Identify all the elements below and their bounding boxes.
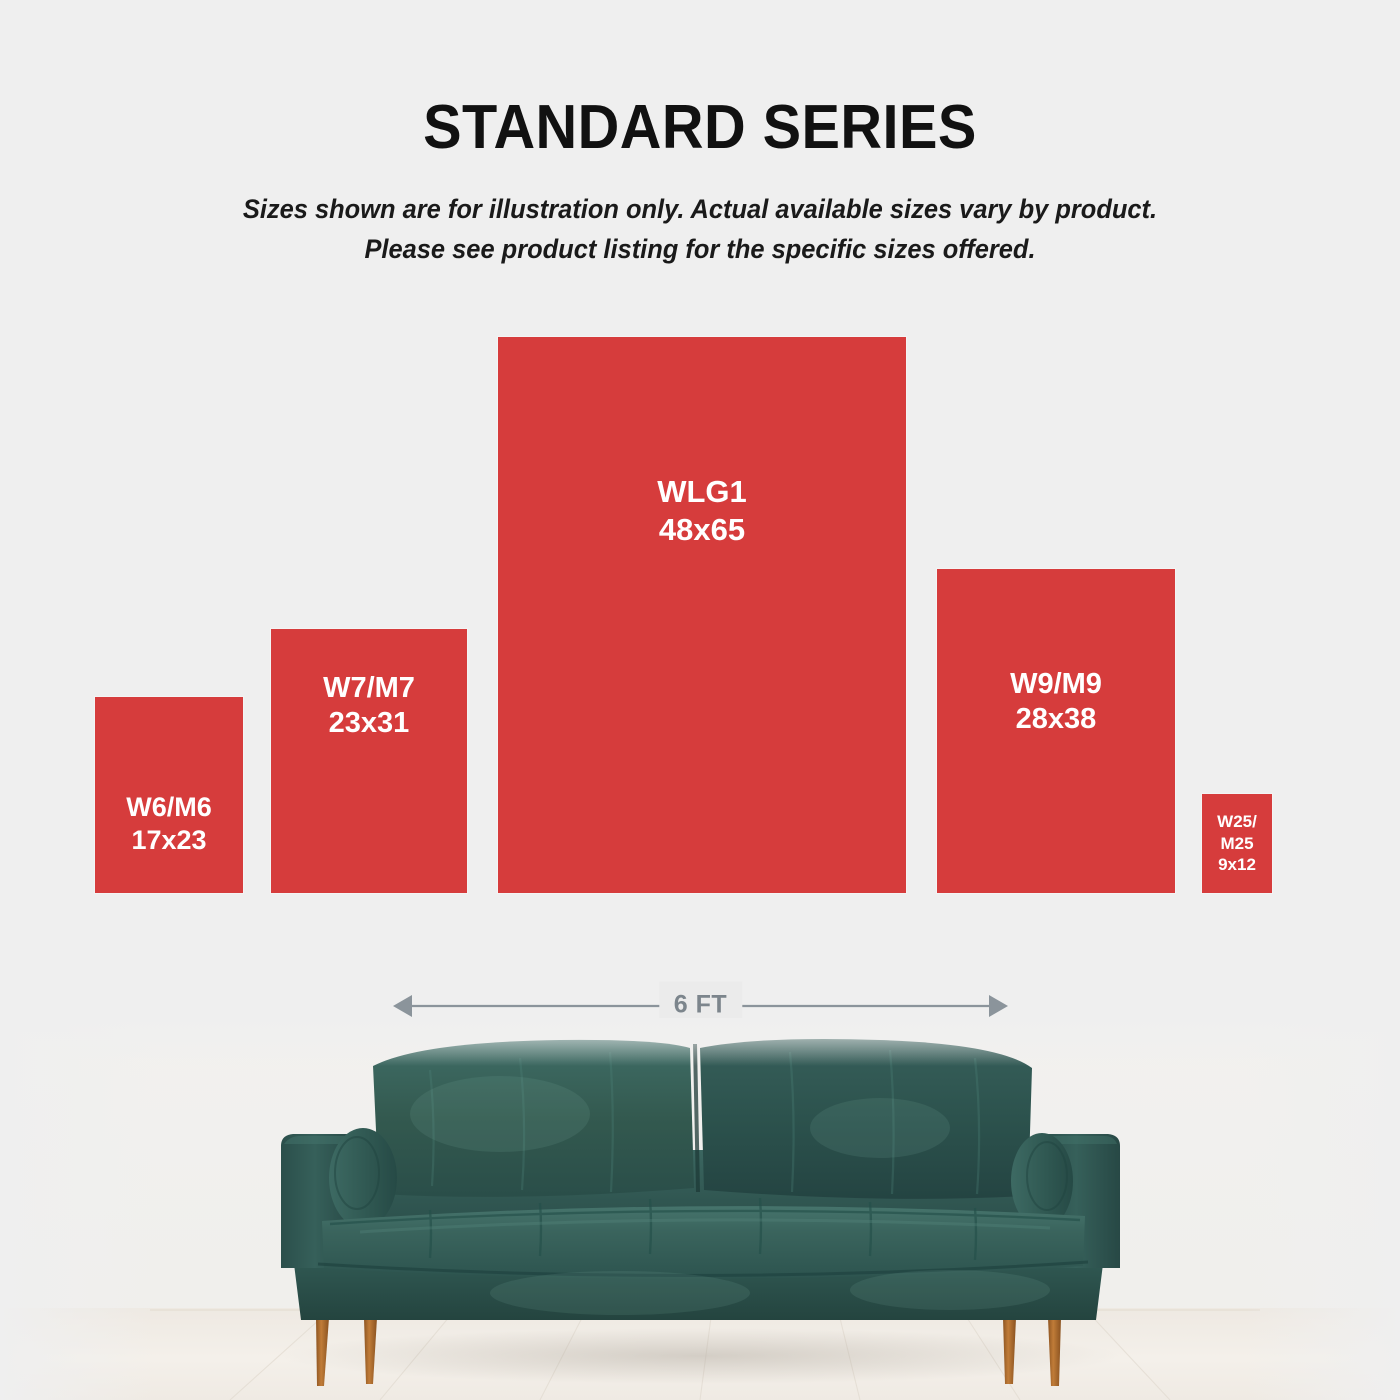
scale-reference-label: 6 FT (674, 991, 727, 1020)
size-box-dimensions: 9x12 (1218, 854, 1256, 876)
size-box-code-line-2: M25 (1220, 833, 1253, 855)
size-chart-page: STANDARD SERIES Sizes shown are for illu… (0, 0, 1400, 1400)
size-box-code: W6/M6 (126, 791, 212, 824)
size-box-group: W6/M6 17x23 W7/M7 23x31 WLG1 48x65 W9/M9… (0, 0, 1400, 920)
size-box-w7-m7[interactable]: W7/M7 23x31 (271, 629, 467, 893)
size-box-dimensions: 28x38 (1016, 702, 1097, 737)
size-box-dimensions: 23x31 (329, 706, 410, 741)
size-box-w6-m6[interactable]: W6/M6 17x23 (95, 697, 243, 893)
size-box-code-line-1: W25/ (1217, 811, 1257, 833)
size-box-wlg1[interactable]: WLG1 48x65 (498, 337, 906, 893)
sofa-photo (0, 1018, 1400, 1400)
size-box-dimensions: 17x23 (131, 824, 206, 857)
green-velvet-sofa-illustration (0, 1018, 1400, 1400)
size-box-code: WLG1 (657, 473, 747, 511)
size-box-w25-m25[interactable]: W25/ M25 9x12 (1202, 794, 1272, 893)
size-box-dimensions: 48x65 (659, 511, 745, 549)
size-box-code: W7/M7 (323, 671, 415, 706)
size-box-code: W9/M9 (1010, 667, 1102, 702)
size-box-w9-m9[interactable]: W9/M9 28x38 (937, 569, 1175, 893)
